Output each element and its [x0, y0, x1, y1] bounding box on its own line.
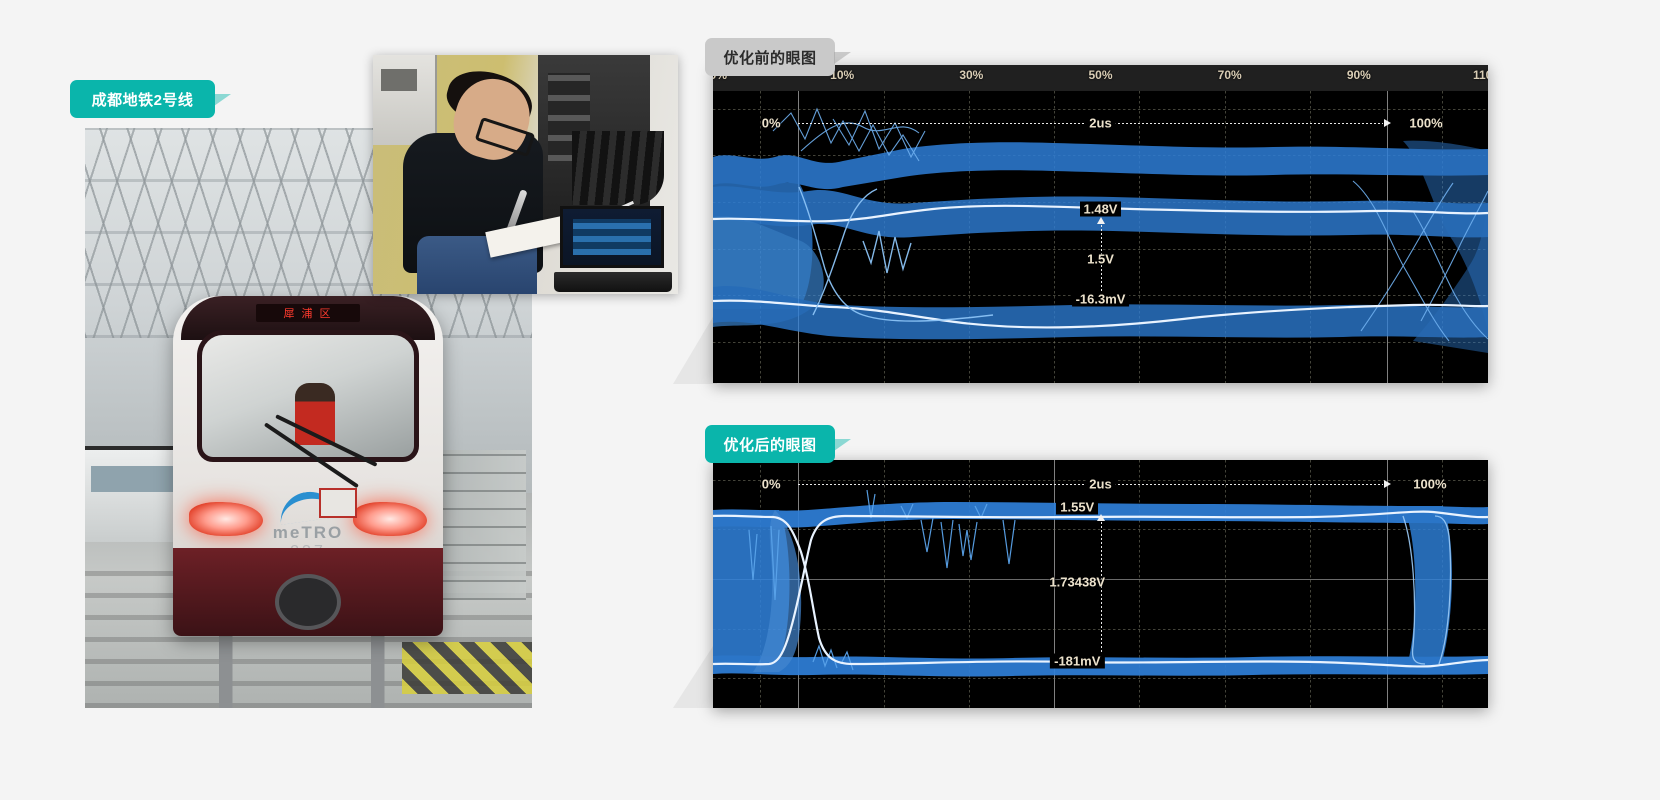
hazard-stripe	[402, 642, 532, 694]
annotation-1-73438v: 1.73438V	[1045, 575, 1109, 590]
before-chart-badge: 优化前的眼图	[705, 38, 835, 76]
time-span-arrow	[1384, 119, 1391, 127]
engineer-figure	[403, 73, 563, 294]
annotation-2us-before: 2us	[1085, 116, 1115, 131]
eye-diagram-after: 2us 0% 100% 1.55V 1.73438V -181mV	[713, 460, 1488, 708]
voltage-span-arrow	[1097, 514, 1105, 521]
eye-diagram-before: -10%10%30%50%70%90%110%	[713, 65, 1488, 383]
coupler	[275, 574, 341, 630]
annotation-0pct-after: 0%	[758, 477, 785, 492]
before-chart-badge-label: 优化前的眼图	[723, 47, 816, 68]
destination-sign: 犀 浦 区	[256, 304, 360, 322]
axis-tick-label: 90%	[1347, 68, 1371, 82]
ribbon-wedge-top	[673, 310, 717, 384]
annotation-1-55v: 1.55V	[1056, 500, 1098, 515]
time-span-arrow	[1384, 480, 1391, 488]
annotation-offset-before: -16.3mV	[1072, 292, 1130, 307]
headlight-right	[353, 502, 427, 536]
train-windshield	[197, 330, 419, 462]
metro-wordmark: meTRO	[273, 523, 343, 543]
annotation-100pct-after: 100%	[1409, 477, 1450, 492]
engineer-photo	[373, 55, 678, 294]
badge-fold	[214, 94, 231, 106]
badge-fold	[834, 52, 851, 64]
ribbon-wedge-bottom	[673, 640, 717, 708]
annotation-0pct-before: 0%	[758, 116, 785, 131]
axis-tick-label: 110%	[1473, 68, 1488, 82]
warning-triangle-icon	[319, 488, 357, 518]
adjacent-train	[85, 446, 181, 542]
annotation-2us-after: 2us	[1085, 477, 1115, 492]
after-chart-badge: 优化后的眼图	[705, 425, 835, 463]
annotation-1-48v: 1.48V	[1080, 202, 1122, 217]
voltage-span-arrow	[1097, 217, 1105, 224]
badge-fold	[834, 439, 851, 451]
laptop-screen	[560, 206, 664, 268]
axis-tick-label: 70%	[1218, 68, 1242, 82]
metro-train-front: 犀 浦 区 meTRO 237	[173, 296, 443, 636]
eye-diagram-after-plot: 2us 0% 100% 1.55V 1.73438V -181mV	[713, 460, 1488, 708]
annotation-100pct-before: 100%	[1405, 116, 1446, 131]
axis-tick-label: 50%	[1088, 68, 1112, 82]
cable-bundle	[572, 131, 664, 205]
laptop-keyboard	[554, 272, 672, 292]
train-skirt	[173, 548, 443, 636]
annotation-offset-after: -181mV	[1050, 654, 1104, 669]
axis-tick-label: 30%	[959, 68, 983, 82]
laptop	[554, 206, 672, 292]
after-chart-badge-label: 优化后的眼图	[723, 434, 816, 455]
headlight-left	[189, 502, 263, 536]
project-badge: 成都地铁2号线	[70, 80, 215, 118]
project-badge-label: 成都地铁2号线	[92, 89, 194, 110]
annotation-1-5v: 1.5V	[1083, 252, 1118, 267]
voltage-span-line	[1101, 518, 1102, 668]
eye-diagram-before-plot: 2us 0% 100% 1.48V 1.5V -16.3mV	[713, 91, 1488, 383]
